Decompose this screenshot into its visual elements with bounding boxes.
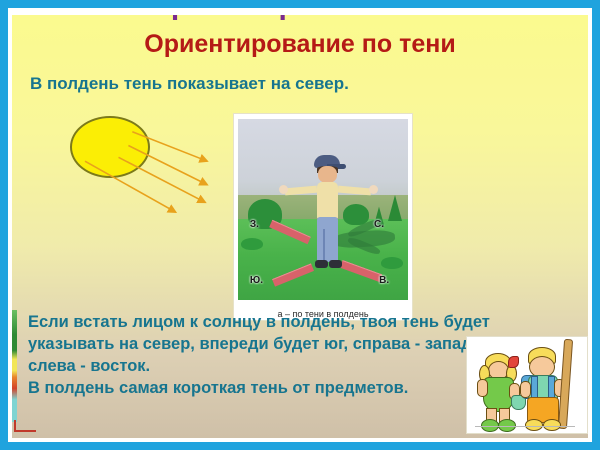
paragraph-line-2: указывать на север, впереди будет юг, сп… xyxy=(28,334,498,356)
leg-split xyxy=(323,229,325,262)
boy-hiker-figure xyxy=(519,347,571,431)
paragraph-line-4: В полдень самая короткая тень от предмет… xyxy=(28,378,498,400)
body-paragraph: Если встать лицом к солнцу в полдень, тв… xyxy=(28,312,498,400)
heading-crop-band xyxy=(12,12,588,15)
girl-figure xyxy=(477,353,523,431)
face xyxy=(318,166,337,183)
paragraph-line-3: слева - восток. xyxy=(28,356,498,378)
boy-figure xyxy=(313,155,347,273)
corner-mark-horizontal xyxy=(14,430,36,432)
corner-mark-vertical xyxy=(14,420,16,432)
boy-arm-left xyxy=(520,381,531,398)
right-hand xyxy=(369,185,378,194)
right-shoe xyxy=(329,260,342,268)
illustration-scene: З. С. Ю. В. xyxy=(238,119,408,300)
paragraph-line-1: Если встать лицом к солнцу в полдень, тв… xyxy=(28,312,498,334)
slide-canvas: Ориентирование по Ориентирование по тени… xyxy=(12,12,588,438)
left-hand xyxy=(279,185,288,194)
torso xyxy=(317,182,338,219)
girl-hair-bow-icon xyxy=(508,356,519,368)
walking-stick-icon xyxy=(558,339,573,429)
ground-line xyxy=(475,426,575,428)
conifer-right-icon xyxy=(388,195,402,221)
direction-label-east: В. xyxy=(379,275,389,286)
direction-label-north: С. xyxy=(374,219,384,230)
boy-strap-left xyxy=(531,376,538,398)
bush-right-icon xyxy=(381,257,403,269)
left-image-edge-strip xyxy=(12,310,17,422)
slide-frame: Ориентирование по Ориентирование по тени… xyxy=(0,0,600,450)
subtitle-text: В полдень тень показывает на север. xyxy=(30,74,349,94)
girl-arm-left xyxy=(477,379,488,397)
legs xyxy=(317,217,338,262)
shadow-orientation-illustration: З. С. Ю. В. а – по тени в полдень xyxy=(233,113,413,321)
page-title: Ориентирование по тени xyxy=(12,30,588,59)
hikers-clipart xyxy=(466,336,588,434)
slide-white-mat: Ориентирование по Ориентирование по тени… xyxy=(8,8,592,442)
direction-label-west: З. xyxy=(250,219,259,230)
left-shoe xyxy=(315,260,328,268)
direction-label-south: Ю. xyxy=(250,275,263,286)
